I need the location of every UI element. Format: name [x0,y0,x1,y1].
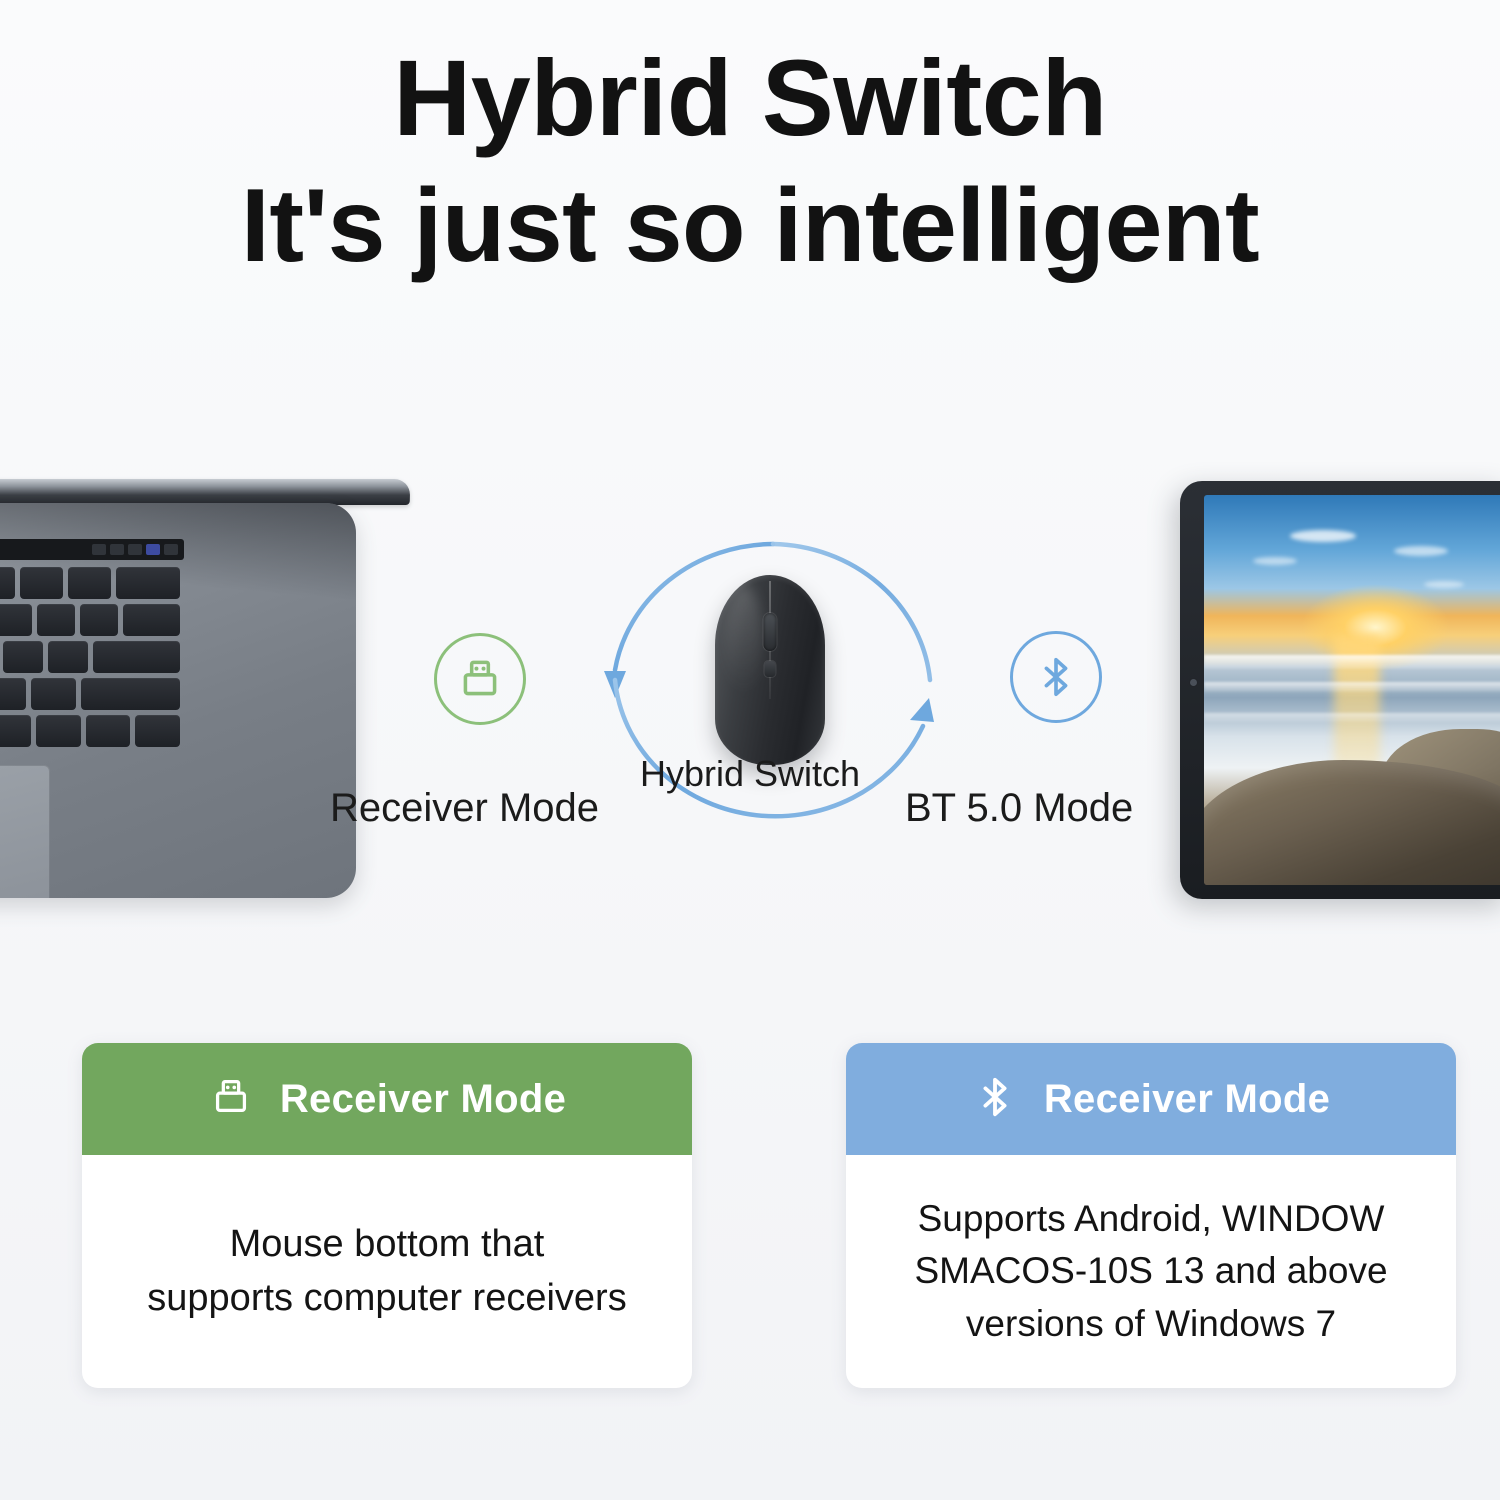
keyboard-row [0,715,180,747]
wallpaper-cloud [1253,557,1297,565]
loop-arrow-up-icon [910,698,934,722]
card-body-bluetooth: Supports Android, WINDOW SMACOS-10S 13 a… [846,1155,1456,1388]
wireless-mouse-image [715,575,825,765]
wallpaper-wave [1204,713,1500,722]
keyboard-key [37,604,75,636]
receiver-mode-card: Receiver Mode Mouse bottom that supports… [82,1043,692,1388]
hybrid-switch-scene: Receiver Mode BT 5.0 Mode Hybrid Switch [0,455,1500,925]
card-body-line: Mouse bottom that [230,1218,545,1272]
keyboard-key [68,567,111,599]
touchbar-chip [128,544,142,555]
card-header-receiver: Receiver Mode [82,1043,692,1155]
keyboard-key-enter [93,641,180,673]
keyboard-key-space [0,715,31,747]
keyboard-key [116,567,180,599]
keyboard-key [86,715,131,747]
laptop-base [0,503,356,898]
wallpaper-cloud [1424,581,1464,588]
scene-label-hybrid-switch: Hybrid Switch [0,753,1500,795]
mode-cards: Receiver Mode Mouse bottom that supports… [0,1043,1500,1393]
keyboard-key [80,604,118,636]
touchbar-chip [164,544,178,555]
product-feature-page: Hybrid Switch It's just so intelligent [0,0,1500,1500]
keyboard-key [0,604,32,636]
mouse-highlight [725,585,763,695]
headline-line-1: Hybrid Switch [0,34,1500,161]
card-body-line: Supports Android, WINDOW [918,1193,1385,1246]
usb-receiver-icon [208,1074,254,1125]
wallpaper-cloud [1394,546,1448,556]
keyboard-key [135,715,180,747]
touchbar-chip [146,544,160,555]
laptop-keyboard [0,567,180,747]
tablet-front-camera [1190,679,1197,686]
page-title: Hybrid Switch It's just so intelligent [0,34,1500,288]
card-body-line: SMACOS-10S 13 and above [914,1245,1387,1298]
bluetooth-icon [972,1074,1018,1125]
keyboard-key [31,678,76,710]
card-header-bluetooth: Receiver Mode [846,1043,1456,1155]
headline-line-2: It's just so intelligent [0,165,1500,288]
tablet-screen-wallpaper [1204,495,1500,885]
laptop-lid [0,479,410,505]
macbook-laptop-image [0,479,390,899]
usb-receiver-icon [434,633,526,725]
keyboard-row [0,567,180,599]
card-title: Receiver Mode [280,1077,566,1122]
keyboard-key [3,641,43,673]
bluetooth-icon [1010,631,1102,723]
touchbar-chip [110,544,124,555]
wallpaper-cloud [1290,530,1356,542]
mouse-mode-button [765,661,776,677]
keyboard-key [123,604,180,636]
mouse-scroll-wheel [764,613,777,651]
keyboard-key [0,678,26,710]
card-body-line: supports computer receivers [147,1272,626,1326]
tablet-device-image [1180,481,1500,899]
keyboard-key [20,567,63,599]
wallpaper-wave [1204,655,1500,669]
keyboard-row [0,641,180,673]
wallpaper-wave [1204,682,1500,692]
bluetooth-mode-card: Receiver Mode Supports Android, WINDOW S… [846,1043,1456,1388]
keyboard-key [48,641,88,673]
touchbar-chip [92,544,106,555]
card-body-receiver: Mouse bottom that supports computer rece… [82,1155,692,1388]
keyboard-row [0,604,180,636]
keyboard-key [36,715,81,747]
card-body-line: versions of Windows 7 [966,1298,1336,1351]
keyboard-key [0,567,15,599]
laptop-touch-bar [0,539,184,560]
card-title: Receiver Mode [1044,1077,1330,1122]
keyboard-row [0,678,180,710]
keyboard-key-shift [81,678,180,710]
